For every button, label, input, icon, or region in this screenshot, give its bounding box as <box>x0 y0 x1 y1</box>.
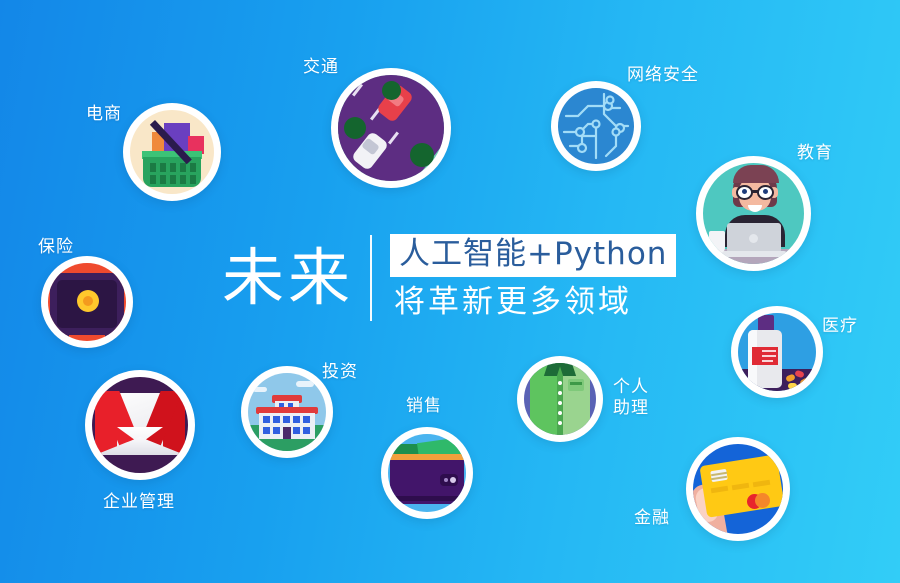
node-label-cybersecurity: 网络安全 <box>627 65 699 86</box>
road-traffic-icon[interactable] <box>331 68 451 188</box>
node-label-sales: 销售 <box>406 396 442 417</box>
safe-vault-icon[interactable] <box>41 256 133 348</box>
office-building-icon[interactable] <box>241 366 333 458</box>
green-shirt-icon[interactable] <box>517 356 603 442</box>
node-label-enterprise-management: 企业管理 <box>103 492 175 513</box>
shopping-basket-icon[interactable] <box>123 103 221 201</box>
headline-boxed-text: 人工智能+Python <box>390 234 676 278</box>
medicine-bottle-icon[interactable] <box>731 306 823 398</box>
headline-plain-text: 将革新更多领域 <box>390 284 676 321</box>
node-label-investment: 投资 <box>322 362 358 383</box>
gmail-envelope-icon[interactable] <box>85 370 195 480</box>
headline-main-text: 未来 <box>222 247 370 309</box>
circuit-board-icon[interactable] <box>551 81 641 171</box>
node-label-education: 教育 <box>797 143 833 164</box>
circuit-traces-svg <box>558 88 634 164</box>
wallet-icon[interactable] <box>381 427 473 519</box>
poster-canvas: 未来 人工智能+Python 将革新更多领域 <box>0 0 900 583</box>
student-laptop-icon[interactable] <box>696 156 811 271</box>
node-label-insurance: 保险 <box>38 237 74 258</box>
node-label-healthcare: 医疗 <box>822 316 858 337</box>
node-label-transport: 交通 <box>303 57 339 78</box>
node-label-finance: 金融 <box>634 508 670 529</box>
headline-block: 未来 人工智能+Python 将革新更多领域 <box>222 225 692 330</box>
node-label-personal-assistant: 个人 助理 <box>613 377 649 420</box>
headline-right-block: 人工智能+Python 将革新更多领域 <box>390 234 676 322</box>
node-label-ecommerce: 电商 <box>86 104 122 125</box>
headline-divider <box>370 235 372 321</box>
credit-card-icon[interactable] <box>686 437 790 541</box>
